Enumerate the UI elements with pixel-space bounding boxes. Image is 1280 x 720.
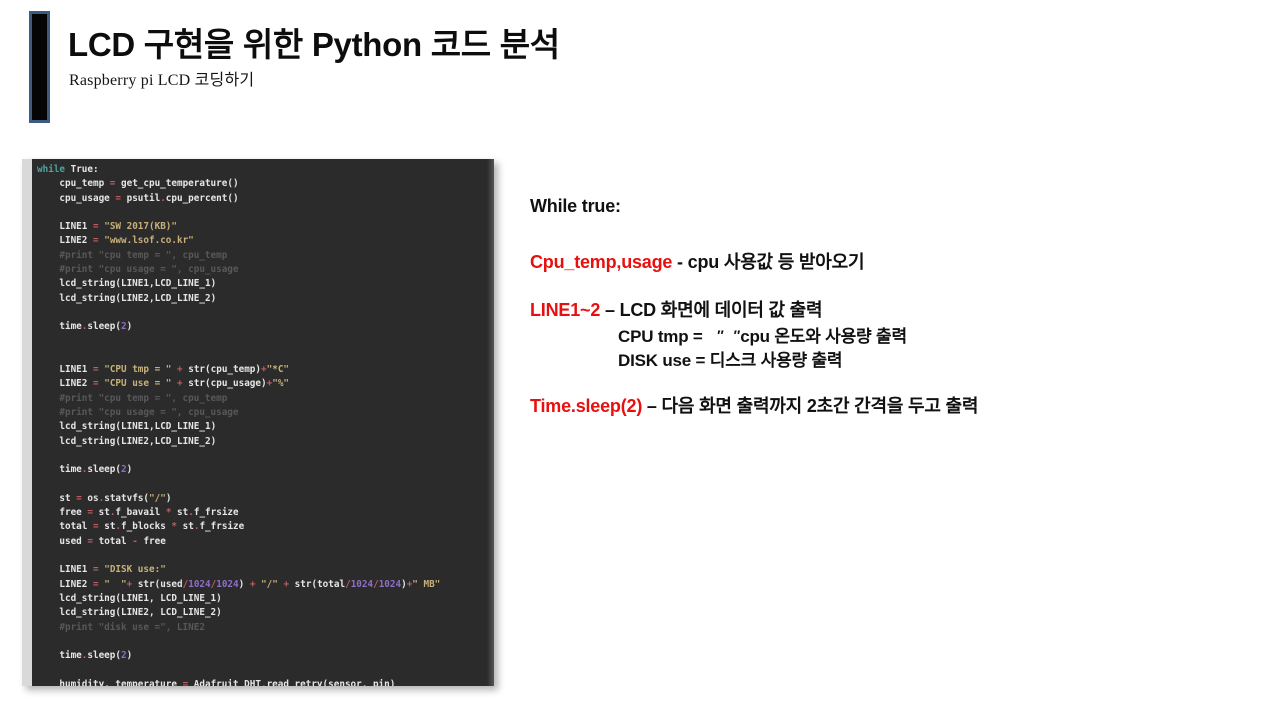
annotation-line12-code: LINE1~2	[530, 300, 600, 320]
code-screenshot: while True: cpu_temp = get_cpu_temperatu…	[22, 159, 494, 686]
code-line: LINE2 = " "+ str(used/1024/1024) + "/" +…	[32, 578, 487, 592]
annotation-cpu-temp: Cpu_temp,usage - cpu 사용값 등 받아오기	[530, 248, 864, 274]
code-gutter	[22, 159, 32, 686]
annotation-sleep-dash: –	[642, 396, 661, 416]
annotation-sleep-code: Time.sleep(2)	[530, 396, 642, 416]
annotation-line12-sub-disk: DISK use = 디스크 사용량 출력	[618, 346, 842, 371]
code-line: #print "cpu temp = ", cpu_temp	[32, 249, 487, 263]
slide-header: LCD 구현을 위한 Python 코드 분석 Raspberry pi LCD…	[0, 0, 1280, 140]
annotation-sleep-desc: 다음 화면 출력까지 2초간 간격을 두고 출력	[662, 396, 979, 416]
annotation-cpu-temp-code: Cpu_temp,usage	[530, 252, 672, 272]
code-line: #print "cpu temp = ", cpu_temp	[32, 392, 487, 406]
code-line	[32, 335, 487, 349]
code-line: cpu_temp = get_cpu_temperature()	[32, 177, 487, 191]
code-edge-shadow	[487, 159, 494, 686]
code-line: used = total - free	[32, 535, 487, 549]
code-line: time.sleep(2)	[32, 649, 487, 663]
code-line	[32, 549, 487, 563]
code-line: time.sleep(2)	[32, 320, 487, 334]
page-title: LCD 구현을 위한 Python 코드 분석	[68, 18, 560, 66]
code-line: LINE2 = "CPU use = " + str(cpu_usage)+"%…	[32, 377, 487, 391]
annotation-sub-cpu-quote-open: ″	[717, 327, 724, 343]
annotation-sub-cpu-prefix: CPU tmp =	[618, 327, 707, 346]
code-line: free = st.f_bavail * st.f_frsize	[32, 506, 487, 520]
code-line: LINE1 = "DISK use:"	[32, 563, 487, 577]
code-line	[32, 635, 487, 649]
annotation-sub-cpu-suffix: cpu 온도와 사용량 출력	[740, 327, 907, 346]
code-line: LINE1 = "CPU tmp = " + str(cpu_temp)+"*C…	[32, 363, 487, 377]
code-line	[32, 449, 487, 463]
annotation-cpu-temp-desc: cpu 사용값 등 받아오기	[688, 252, 865, 272]
annotation-line12-desc: LCD 화면에 데이터 값 출력	[620, 300, 823, 320]
code-line: time.sleep(2)	[32, 463, 487, 477]
code-line: lcd_string(LINE2,LCD_LINE_2)	[32, 435, 487, 449]
code-line: lcd_string(LINE1,LCD_LINE_1)	[32, 277, 487, 291]
annotation-line12-dash: –	[600, 300, 619, 320]
code-line: LINE1 = "SW 2017(KB)"	[32, 220, 487, 234]
page-subtitle: Raspberry pi LCD 코딩하기	[69, 66, 254, 90]
code-line: humidity, temperature = Adafruit_DHT.rea…	[32, 678, 487, 686]
code-line	[32, 306, 487, 320]
code-line: lcd_string(LINE2,LCD_LINE_2)	[32, 292, 487, 306]
annotation-cpu-temp-dash: -	[672, 252, 687, 272]
code-line: #print "disk use =", LINE2	[32, 621, 487, 635]
code-line: total = st.f_blocks * st.f_frsize	[32, 520, 487, 534]
code-line	[32, 206, 487, 220]
code-line: #print "cpu usage = ", cpu_usage	[32, 263, 487, 277]
annotation-line12-sub-cpu: CPU tmp = ″″cpu 온도와 사용량 출력	[618, 322, 907, 347]
code-line: st = os.statvfs("/")	[32, 492, 487, 506]
code-line	[32, 349, 487, 363]
code-line: while True:	[32, 163, 487, 177]
code-line: #print "cpu usage = ", cpu_usage	[32, 406, 487, 420]
code-line: lcd_string(LINE1,LCD_LINE_1)	[32, 420, 487, 434]
annotation-sleep: Time.sleep(2) – 다음 화면 출력까지 2초간 간격을 두고 출력	[530, 392, 978, 418]
code-line	[32, 663, 487, 677]
annotation-while: While true:	[530, 196, 621, 217]
annotation-line12: LINE1~2 – LCD 화면에 데이터 값 출력	[530, 296, 822, 322]
title-accent-bar	[29, 11, 50, 123]
code-content: while True: cpu_temp = get_cpu_temperatu…	[32, 163, 487, 686]
code-line: LINE2 = "www.lsof.co.kr"	[32, 234, 487, 248]
code-line: cpu_usage = psutil.cpu_percent()	[32, 192, 487, 206]
code-line: lcd_string(LINE1, LCD_LINE_1)	[32, 592, 487, 606]
code-line: lcd_string(LINE2, LCD_LINE_2)	[32, 606, 487, 620]
code-line	[32, 478, 487, 492]
